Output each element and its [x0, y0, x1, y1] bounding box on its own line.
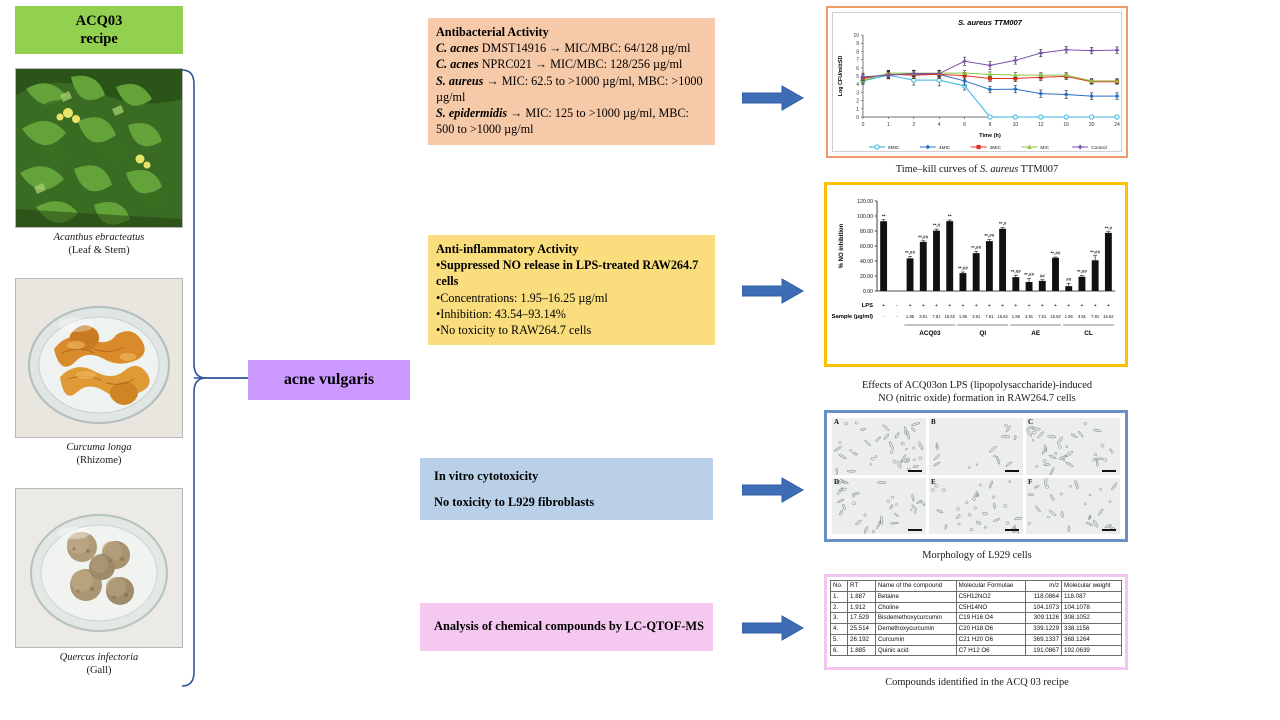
table-cell: 1.912 — [848, 602, 876, 613]
bar — [880, 221, 887, 291]
antibacterial-line-2: C. acnes NPRC021 → MIC/MBC: 128/256 µg/m… — [436, 56, 707, 72]
table-cell: 26.192 — [848, 634, 876, 645]
svg-text:**: ** — [882, 213, 886, 218]
svg-text:0.00: 0.00 — [863, 289, 873, 295]
micrograph-label-f: F — [1028, 478, 1032, 486]
svg-text:5: 5 — [856, 74, 859, 80]
svg-text:20.00: 20.00 — [860, 274, 873, 280]
no-caption-line1: Effects of ACQ03on LPS (lipopolysacchari… — [862, 380, 1092, 391]
svg-text:-: - — [883, 314, 885, 319]
table-cell: C21 H20 O6 — [956, 634, 1026, 645]
recipe-line1: ACQ03 — [76, 12, 123, 30]
curcuma-part: (Rhizome) — [77, 455, 122, 466]
table-cell: 369.1337 — [1026, 634, 1062, 645]
acanthus-part: (Leaf & Stem) — [68, 245, 129, 256]
acq03-recipe-title: ACQ03 recipe — [15, 6, 183, 54]
svg-text:Time (h): Time (h) — [979, 133, 1001, 139]
micrograph-cell-f: F — [1026, 478, 1120, 535]
svg-text:+: + — [1054, 303, 1057, 309]
arrow-to-compounds-table-icon — [742, 615, 804, 641]
timekill-caption-species: S. aureus — [980, 164, 1018, 175]
in-vitro-cytotoxicity-box: In vitro cytotoxicity No toxicity to L92… — [420, 458, 713, 520]
table-cell: 1.887 — [848, 591, 876, 602]
svg-text:40.00: 40.00 — [860, 259, 873, 265]
micrograph-cell-b: B — [929, 418, 1023, 475]
quercus-part: (Gall) — [86, 665, 111, 676]
svg-text:8: 8 — [989, 122, 992, 128]
svg-text:LPS: LPS — [862, 303, 873, 309]
svg-text:+: + — [1094, 303, 1097, 309]
svg-text:+: + — [948, 303, 951, 309]
compounds-table-caption: Compounds identified in the ACQ 03 recip… — [822, 676, 1132, 689]
svg-text:1: 1 — [856, 107, 859, 113]
l929-morphology-panel: A B C D E — [824, 410, 1128, 542]
micrograph-label-e: E — [931, 478, 936, 486]
table-header-row: No. RT Name of the compound Molecular Fo… — [831, 581, 1122, 592]
table-cell: Quinic acid — [875, 645, 956, 656]
table-cell: 191.0867 — [1026, 645, 1062, 656]
table-cell: 368.1264 — [1062, 634, 1122, 645]
svg-text:+: + — [988, 303, 991, 309]
table-row: 5.26.192CurcuminC21 H20 O6369.1337368.12… — [831, 634, 1122, 645]
svg-text:2: 2 — [856, 99, 859, 105]
svg-text:**,##: **,## — [905, 250, 915, 255]
lcms-label: Analysis of chemical compounds by LC-QTO… — [434, 619, 704, 635]
svg-text:+: + — [961, 303, 964, 309]
th-no: No. — [831, 581, 848, 592]
quercus-species: Quercus infectoria — [60, 652, 139, 663]
antibacterial-line-4: S. epidermidis → MIC: 125 to >1000 µg/ml… — [436, 105, 707, 137]
recipe-line2: recipe — [80, 30, 118, 48]
svg-text:% NO inhibition: % NO inhibition — [839, 223, 845, 268]
antibacterial-title: Antibacterial Activity — [436, 24, 707, 40]
svg-text:+: + — [935, 303, 938, 309]
table-row: 1.1.887BetaineC5H12NO2118.0864118.087 — [831, 591, 1122, 602]
svg-text:+: + — [1080, 303, 1083, 309]
svg-text:1.95: 1.95 — [959, 314, 968, 319]
cytotoxicity-title: In vitro cytotoxicity — [434, 469, 713, 484]
quercus-photo-art — [16, 489, 182, 647]
th-name: Name of the compound — [875, 581, 956, 592]
micrograph-art-c — [1026, 418, 1120, 475]
quercus-caption: Quercus infectoria (Gall) — [9, 651, 189, 677]
table-cell: 192.0639 — [1062, 645, 1122, 656]
bar — [920, 242, 927, 291]
table-cell: Betaine — [875, 591, 956, 602]
antiinflammatory-bullet-3: •Inhibition: 43.54–93.14% — [436, 306, 707, 322]
svg-text:7: 7 — [856, 58, 859, 64]
svg-text:+: + — [1001, 303, 1004, 309]
svg-text:+: + — [1067, 303, 1070, 309]
micrograph-grid: A B C D E — [832, 418, 1120, 534]
timekill-caption-post: TTM007 — [1018, 164, 1058, 175]
svg-text:3.91: 3.91 — [919, 314, 928, 319]
svg-text:**,##: **,## — [1090, 249, 1100, 254]
svg-text:AE: AE — [1031, 330, 1041, 337]
grouping-bracket — [180, 66, 254, 690]
micrograph-art-d — [832, 478, 926, 535]
svg-text:6: 6 — [856, 66, 859, 72]
morphology-caption: Morphology of L929 cells — [822, 549, 1132, 562]
svg-text:12: 12 — [1038, 122, 1044, 128]
th-mz: m/z — [1026, 581, 1062, 592]
svg-text:**,#: **,# — [933, 223, 941, 228]
antibacterial-species-3: S. aureus — [436, 74, 483, 88]
table-cell: C7 H12 O6 — [956, 645, 1026, 656]
antiinflammatory-bullet-2: •Concentrations: 1.95–16.25 µg/ml — [436, 290, 707, 306]
table-cell: 3. — [831, 613, 848, 624]
legend-4MIC: 4MIC — [920, 145, 951, 151]
svg-text:**,#: **,# — [1105, 225, 1113, 230]
svg-text:7.81: 7.81 — [985, 314, 994, 319]
table-cell: 1. — [831, 591, 848, 602]
svg-text:1.95: 1.95 — [1012, 314, 1021, 319]
table-cell: 338.1156 — [1062, 624, 1122, 635]
scale-bar-a — [908, 470, 922, 472]
svg-text:**,##: **,## — [1051, 251, 1061, 256]
svg-text:1: 1 — [887, 122, 890, 128]
svg-text:-: - — [896, 303, 898, 309]
legend-Control: Control — [1072, 145, 1106, 151]
antibacterial-detail-1: DMST14916 → MIC/MBC: 64/128 µg/ml — [479, 41, 691, 55]
micrograph-label-b: B — [931, 418, 936, 426]
bar — [933, 231, 940, 291]
svg-text:4: 4 — [938, 122, 941, 128]
th-mw: Molecular weight — [1062, 581, 1122, 592]
svg-text:1.95: 1.95 — [906, 314, 915, 319]
svg-text:0: 0 — [862, 122, 865, 128]
table-cell: C20 H18 O6 — [956, 624, 1026, 635]
table-row: 3.17.529BisdemethoxycurcuminC19 H16 O430… — [831, 613, 1122, 624]
micrograph-art-b — [929, 418, 1023, 475]
scale-bar-c — [1102, 470, 1116, 472]
svg-text:+: + — [1014, 303, 1017, 309]
cytotoxicity-result: No toxicity to L929 fibroblasts — [434, 495, 713, 510]
acanthus-ebracteatus-photo — [15, 68, 183, 228]
acanthus-species: Acanthus ebracteatus — [54, 232, 145, 243]
legend-MIC: MIC — [1021, 145, 1049, 151]
svg-text:15.62: 15.62 — [997, 314, 1008, 319]
quercus-infectoria-photo — [15, 488, 183, 648]
micrograph-label-d: D — [834, 478, 839, 486]
svg-text:+: + — [975, 303, 978, 309]
svg-text:Control: Control — [1091, 145, 1106, 151]
bar — [986, 241, 993, 291]
svg-text:+: + — [1107, 303, 1110, 309]
curcuma-species: Curcuma longa — [66, 442, 131, 453]
legend-2MIC: 2MIC — [971, 145, 1002, 151]
antiinflammatory-bullet-4: •No toxicity to RAW264.7 cells — [436, 322, 707, 338]
svg-text:10: 10 — [853, 33, 859, 39]
table-cell: 17.529 — [848, 613, 876, 624]
table-cell: C19 H16 O4 — [956, 613, 1026, 624]
svg-text:**,##: **,## — [918, 234, 928, 239]
svg-text:MIC: MIC — [1040, 145, 1049, 151]
bar — [1065, 286, 1072, 291]
table-cell: 1.885 — [848, 645, 876, 656]
svg-text:S. aureus TTM007: S. aureus TTM007 — [958, 18, 1023, 27]
plant-entry-acanthus: Acanthus ebracteatus (Leaf & Stem) — [15, 68, 189, 257]
table-cell: 308.1052 — [1062, 613, 1122, 624]
micrograph-art-e — [929, 478, 1023, 535]
bar — [946, 221, 953, 291]
micrograph-label-a: A — [834, 418, 839, 426]
curcuma-photo-art — [16, 279, 182, 437]
legend-8MIC: 8MIC — [869, 145, 900, 151]
svg-text:+: + — [1027, 303, 1030, 309]
svg-text:**,##: **,## — [958, 266, 968, 271]
antibacterial-species-1: C. acnes — [436, 41, 479, 55]
bar — [1026, 282, 1033, 291]
antibacterial-line-3: S. aureus → MIC: 62.5 to >1000 µg/ml, MB… — [436, 73, 707, 105]
svg-text:15.62: 15.62 — [1050, 314, 1061, 319]
lc-qtof-ms-box: Analysis of chemical compounds by LC-QTO… — [420, 603, 713, 651]
svg-text:7.81: 7.81 — [932, 314, 941, 319]
micrograph-cell-d: D — [832, 478, 926, 535]
svg-text:3.91: 3.91 — [1025, 314, 1034, 319]
svg-text:**: ** — [948, 214, 952, 219]
svg-text:1.95: 1.95 — [1065, 314, 1074, 319]
acanthus-caption: Acanthus ebracteatus (Leaf & Stem) — [9, 231, 189, 257]
table-cell: Bisdemethoxycurcumin — [875, 613, 956, 624]
compounds-table: No. RT Name of the compound Molecular Fo… — [830, 580, 1122, 656]
compounds-table-panel: No. RT Name of the compound Molecular Fo… — [824, 574, 1128, 670]
bar — [907, 258, 914, 291]
svg-text:16: 16 — [1063, 122, 1069, 128]
time-kill-caption: Time–kill curves of S. aureus TTM007 — [822, 163, 1132, 176]
svg-text:15.62: 15.62 — [1103, 314, 1114, 319]
svg-text:4MIC: 4MIC — [939, 145, 951, 151]
svg-text:+: + — [922, 303, 925, 309]
svg-text:Log CFU/ml±SD: Log CFU/ml±SD — [838, 56, 844, 97]
svg-text:9: 9 — [856, 41, 859, 47]
svg-text:7.81: 7.81 — [1091, 314, 1100, 319]
svg-text:+: + — [908, 303, 911, 309]
table-row: 2.1.912CholineC5H14NO104.1073104.1078 — [831, 602, 1122, 613]
compounds-table-body: 1.1.887BetaineC5H12NO2118.0864118.0872.1… — [831, 591, 1122, 656]
time-kill-chart-panel: S. aureus TTM007012345678910012468101216… — [826, 6, 1128, 158]
antibacterial-species-4: S. epidermidis — [436, 106, 507, 120]
th-formula: Molecular Formulae — [956, 581, 1026, 592]
plant-entry-curcuma: Curcuma longa (Rhizome) — [15, 278, 189, 467]
svg-text:**,##: **,## — [971, 245, 981, 250]
scale-bar-f — [1102, 529, 1116, 531]
table-cell: 104.1078 — [1062, 602, 1122, 613]
micrograph-cell-c: C — [1026, 418, 1120, 475]
antiinflammatory-title: Anti-inflammatory Activity — [436, 241, 707, 257]
plant-entry-quercus: Quercus infectoria (Gall) — [15, 488, 189, 677]
scale-bar-e — [1005, 529, 1019, 531]
svg-text:8: 8 — [856, 49, 859, 55]
svg-text:80.00: 80.00 — [860, 229, 873, 235]
table-cell: 309.1126 — [1026, 613, 1062, 624]
svg-text:**,##: **,## — [984, 233, 994, 238]
table-cell: 5. — [831, 634, 848, 645]
bar — [1092, 260, 1099, 291]
svg-text:20: 20 — [1089, 122, 1095, 128]
timekill-caption-pre: Time–kill curves of — [896, 164, 980, 175]
curcuma-longa-photo — [15, 278, 183, 438]
table-cell: 118.0864 — [1026, 591, 1062, 602]
svg-text:8MIC: 8MIC — [888, 145, 900, 151]
scale-bar-d — [908, 529, 922, 531]
table-cell: C5H12NO2 — [956, 591, 1026, 602]
svg-text:15.62: 15.62 — [944, 314, 955, 319]
svg-text:10: 10 — [1013, 122, 1019, 128]
arrow-to-morphology-icon — [742, 477, 804, 503]
antibacterial-activity-box: Antibacterial Activity C. acnes DMST1491… — [428, 18, 715, 145]
antibacterial-detail-2: NPRC021 → MIC/MBC: 128/256 µg/ml — [479, 57, 683, 71]
table-cell: Demethoxycurcumin — [875, 624, 956, 635]
anti-inflammatory-activity-box: Anti-inflammatory Activity •Suppressed N… — [428, 235, 715, 345]
svg-text:##: ## — [1066, 277, 1072, 282]
scale-bar-b — [1005, 470, 1019, 472]
svg-text:**,#: **,# — [999, 221, 1007, 226]
svg-text:Sample (µg/ml): Sample (µg/ml) — [832, 314, 873, 320]
acanthus-photo-art — [16, 69, 182, 227]
table-row: 6.1.885Quinic acidC7 H12 O6191.0867192.0… — [831, 645, 1122, 656]
table-cell: Choline — [875, 602, 956, 613]
antiinflammatory-bullet-1: •Suppressed NO release in LPS-treated RA… — [436, 257, 707, 289]
svg-text:**,##: **,## — [1077, 269, 1087, 274]
bar — [1039, 281, 1046, 291]
th-rt: RT — [848, 581, 876, 592]
micrograph-cell-a: A — [832, 418, 926, 475]
table-row: 4.25.514DemethoxycurcuminC20 H18 O6339.1… — [831, 624, 1122, 635]
arrow-to-timekill-icon — [742, 85, 804, 111]
table-cell: 2. — [831, 602, 848, 613]
micrograph-art-a — [832, 418, 926, 475]
acne-vulgaris-node: acne vulgaris — [248, 360, 410, 400]
svg-text:0: 0 — [856, 115, 859, 121]
svg-text:4: 4 — [856, 82, 859, 88]
table-cell: 339.1229 — [1026, 624, 1062, 635]
no-caption-line2: NO (nitric oxide) formation in RAW264.7 … — [878, 393, 1075, 404]
bar — [973, 253, 980, 291]
table-cell: C5H14NO — [956, 602, 1026, 613]
svg-text:100.00: 100.00 — [857, 214, 873, 220]
svg-text:2MIC: 2MIC — [990, 145, 1002, 151]
bar — [1052, 258, 1059, 291]
svg-text:24: 24 — [1114, 122, 1120, 128]
svg-text:6: 6 — [963, 122, 966, 128]
bar — [960, 273, 967, 291]
svg-text:+: + — [1041, 303, 1044, 309]
svg-text:60.00: 60.00 — [860, 244, 873, 250]
no-inhibition-caption: Effects of ACQ03on LPS (lipopolysacchari… — [822, 379, 1132, 406]
table-cell: 4. — [831, 624, 848, 635]
arrow-to-no-inhibition-icon — [742, 278, 804, 304]
svg-text:##: ## — [1040, 273, 1046, 278]
svg-text:120.00: 120.00 — [857, 199, 873, 205]
svg-text:+: + — [882, 303, 885, 309]
table-cell: 6. — [831, 645, 848, 656]
bar — [1079, 277, 1086, 291]
svg-text:CL: CL — [1084, 330, 1093, 337]
svg-text:3: 3 — [856, 90, 859, 96]
no-inhibition-chart: 0.0020.0040.0060.0080.00100.00120.00% NO… — [827, 185, 1125, 364]
graphical-abstract: ACQ03 recipe — [0, 0, 1280, 720]
bar — [1012, 277, 1019, 291]
table-cell: 118.087 — [1062, 591, 1122, 602]
micrograph-cell-e: E — [929, 478, 1023, 535]
antibacterial-line-1: C. acnes DMST14916 → MIC/MBC: 64/128 µg/… — [436, 40, 707, 56]
svg-text:**,##: **,## — [1011, 269, 1021, 274]
svg-text:7.81: 7.81 — [1038, 314, 1047, 319]
micrograph-art-f — [1026, 478, 1120, 535]
table-cell: Curcumin — [875, 634, 956, 645]
table-cell: 25.514 — [848, 624, 876, 635]
acne-vulgaris-label: acne vulgaris — [284, 371, 374, 389]
curcuma-caption: Curcuma longa (Rhizome) — [9, 441, 189, 467]
micrograph-label-c: C — [1028, 418, 1033, 426]
svg-text:-: - — [896, 314, 898, 319]
svg-text:ACQ03: ACQ03 — [919, 330, 941, 337]
bar — [999, 229, 1006, 291]
bar — [1105, 233, 1112, 291]
svg-text:3.91: 3.91 — [972, 314, 981, 319]
table-cell: 104.1073 — [1026, 602, 1062, 613]
svg-text:3.91: 3.91 — [1078, 314, 1087, 319]
svg-text:2: 2 — [912, 122, 915, 128]
svg-text:**,##: **,## — [1024, 272, 1034, 277]
antibacterial-species-2: C. acnes — [436, 57, 479, 71]
svg-text:QI: QI — [979, 330, 986, 337]
time-kill-chart: S. aureus TTM007012345678910012468101216… — [833, 13, 1127, 157]
no-inhibition-chart-panel: 0.0020.0040.0060.0080.00100.00120.00% NO… — [824, 182, 1128, 367]
